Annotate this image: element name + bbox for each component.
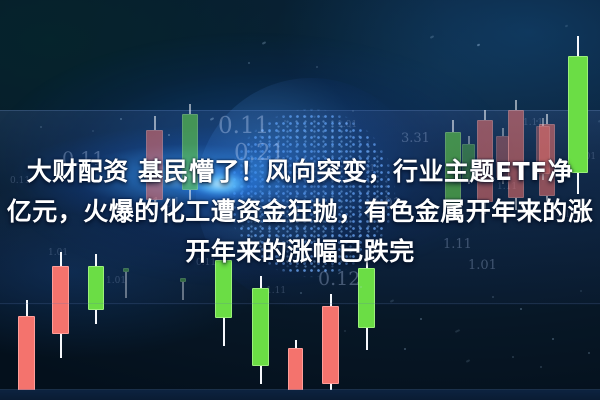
background-speck <box>552 338 555 341</box>
background-speck <box>404 348 407 351</box>
background-speck <box>284 120 287 123</box>
background-speck <box>520 308 523 311</box>
band-edge-bottom <box>0 303 600 304</box>
background-speck <box>344 330 347 333</box>
news-banner-image: 0.110.110.210.121.011.011.011.111.111.11… <box>0 0 600 400</box>
background-speck <box>120 118 123 121</box>
background-speck <box>512 356 515 359</box>
background-speck <box>492 296 495 299</box>
headline-text: 大财配资 基民懵了！风向突变，行业主题ETF净 亿元，火爆的化工遭资金狂抛，有色… <box>0 152 600 272</box>
background-speck <box>168 134 171 137</box>
background-speck <box>210 117 214 121</box>
background-speck <box>477 43 481 46</box>
background-speck <box>466 359 470 363</box>
background-speck <box>262 41 266 45</box>
background-speck <box>420 318 423 321</box>
background-speck <box>455 329 460 333</box>
headline-line-2: 亿元，火爆的化工遭资金狂抛，有色金属开年来的涨 <box>0 192 600 232</box>
background-speck <box>316 66 319 69</box>
background-speck <box>248 62 251 65</box>
bottom-strip <box>0 390 600 400</box>
background-speck <box>540 366 543 369</box>
background-speck <box>352 110 355 113</box>
headline-line-3: 开年来的涨幅已跌完 <box>0 232 600 272</box>
background-speck <box>40 126 43 129</box>
background-speck <box>536 120 539 123</box>
background-speck <box>565 24 569 27</box>
background-speck <box>588 352 591 355</box>
background-speck <box>580 290 583 293</box>
headline-line-1: 大财配资 基民懵了！风向突变，行业主题ETF净 <box>0 152 600 192</box>
background-speck <box>92 130 95 133</box>
background-speck <box>430 35 434 39</box>
background-speck <box>360 286 363 289</box>
background-speck <box>300 292 303 295</box>
